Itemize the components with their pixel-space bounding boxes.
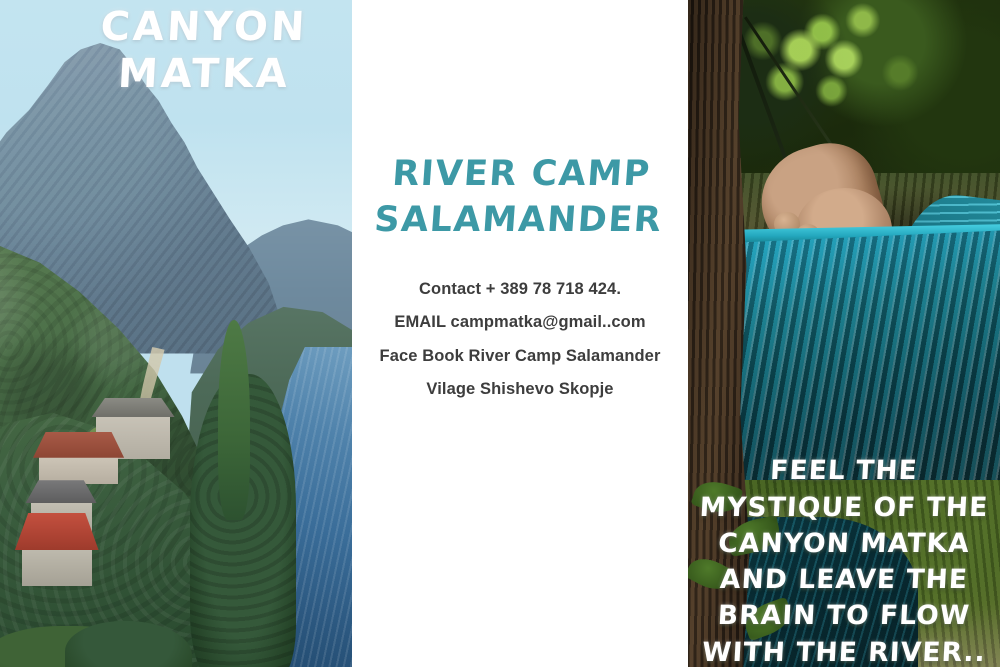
- contact-facebook: Face Book River Camp Salamander: [380, 340, 661, 373]
- canyon-matka-photo: CANYON MATKA: [0, 0, 352, 667]
- roof-grey: [92, 398, 175, 417]
- slogan-line-5: BRAIN TO FLOW: [693, 598, 995, 634]
- contact-address: Vilage Shishevo Skopje: [380, 373, 661, 406]
- headline-line-2: MATKA: [55, 51, 352, 98]
- slogan-line-6: WITH THE RIVER..: [693, 635, 995, 667]
- roof-red-tile: [33, 432, 124, 458]
- slogan-overlay: FEEL THE MYSTIQUE OF THE CANYON MATKA AN…: [688, 453, 1000, 667]
- slogan-line-2: MYSTIQUE OF THE: [693, 490, 995, 526]
- village-houses: [0, 414, 218, 667]
- info-panel: RIVER CAMP SALAMANDER Contact + 389 78 7…: [352, 0, 688, 667]
- canyon-matka-headline: CANYON MATKA: [0, 4, 352, 98]
- headline-line-1: CANYON: [55, 4, 352, 51]
- slogan-line-3: CANYON MATKA: [693, 526, 995, 562]
- house-red-roof-upper: [39, 454, 118, 484]
- brand-line-1: RIVER CAMP: [376, 152, 667, 198]
- roof-bright-red: [15, 513, 99, 550]
- poplar-tree: [218, 320, 250, 520]
- contact-email: EMAIL campmatka@gmail..com: [380, 306, 661, 339]
- brand-line-2: SALAMANDER: [373, 198, 664, 244]
- brand-title: RIVER CAMP SALAMANDER: [373, 152, 667, 243]
- slogan-line-1: FEEL THE: [693, 453, 995, 489]
- foreground-bush-right: [65, 621, 192, 667]
- hammock-photo: FEEL THE MYSTIQUE OF THE CANYON MATKA AN…: [688, 0, 1000, 667]
- house-red-roof-lower: [22, 545, 92, 586]
- promo-flyer: CANYON MATKA RIVER CAMP SALAMANDER Conta…: [0, 0, 1000, 667]
- contact-details: Contact + 389 78 718 424. EMAIL campmatk…: [380, 273, 661, 407]
- slogan-line-4: AND LEAVE THE: [693, 562, 995, 598]
- contact-phone: Contact + 389 78 718 424.: [380, 273, 661, 306]
